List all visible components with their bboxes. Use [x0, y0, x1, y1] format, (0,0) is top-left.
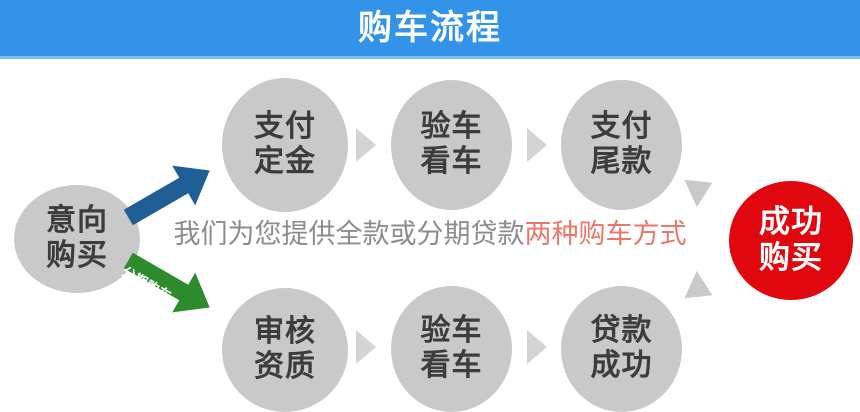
- center-caption: 我们为您提供全款或分期贷款两种购车方式: [0, 220, 860, 250]
- header-banner: 购车流程: [0, 0, 860, 56]
- flow-node-top-1-line2: 定金: [254, 145, 316, 180]
- page-title: 购车流程: [358, 11, 502, 45]
- flow-node-bottom-1[interactable]: 审核 资质: [222, 288, 348, 412]
- flow-node-top-1-line1: 支付: [254, 110, 316, 145]
- flow-node-bottom-2-line1: 验车: [421, 314, 483, 349]
- caption-highlight-text: 两种购车方式: [525, 219, 687, 250]
- connector-top-1-2: [356, 128, 376, 162]
- header-underline-divider: [0, 56, 860, 59]
- flow-node-bottom-3[interactable]: 贷款 成功: [561, 286, 682, 412]
- flow-node-top-2-line1: 验车: [421, 110, 483, 145]
- flow-node-bottom-1-line1: 审核: [254, 315, 316, 350]
- connector-bottom-1-2: [356, 330, 376, 364]
- connector-bottom-3-end: [683, 268, 717, 302]
- purchase-flow-infographic: 购车流程 意向 购买 全款购车 分期购车 支付 定金 验车 看车: [0, 0, 860, 412]
- flow-node-top-2-line2: 看车: [421, 145, 483, 180]
- caption-main-text: 我们为您提供全款或分期贷款: [174, 219, 525, 250]
- flow-node-top-2[interactable]: 验车 看车: [391, 80, 512, 210]
- flow-node-top-3-line2: 尾款: [591, 145, 653, 180]
- connector-top-3-end: [683, 176, 717, 210]
- flow-node-top-3-line1: 支付: [591, 110, 653, 145]
- flow-node-top-1[interactable]: 支付 定金: [222, 78, 348, 212]
- flow-node-bottom-1-line2: 资质: [254, 350, 316, 385]
- flow-node-top-3[interactable]: 支付 尾款: [561, 80, 682, 210]
- connector-bottom-2-3: [527, 330, 547, 364]
- flow-node-bottom-3-line1: 贷款: [591, 314, 653, 349]
- flow-node-bottom-2[interactable]: 验车 看车: [391, 286, 512, 412]
- flow-node-bottom-3-line2: 成功: [591, 349, 653, 384]
- connector-top-2-3: [527, 128, 547, 162]
- flow-node-bottom-2-line2: 看车: [421, 349, 483, 384]
- branch-arrow-installment[interactable]: 分期购车: [116, 248, 222, 320]
